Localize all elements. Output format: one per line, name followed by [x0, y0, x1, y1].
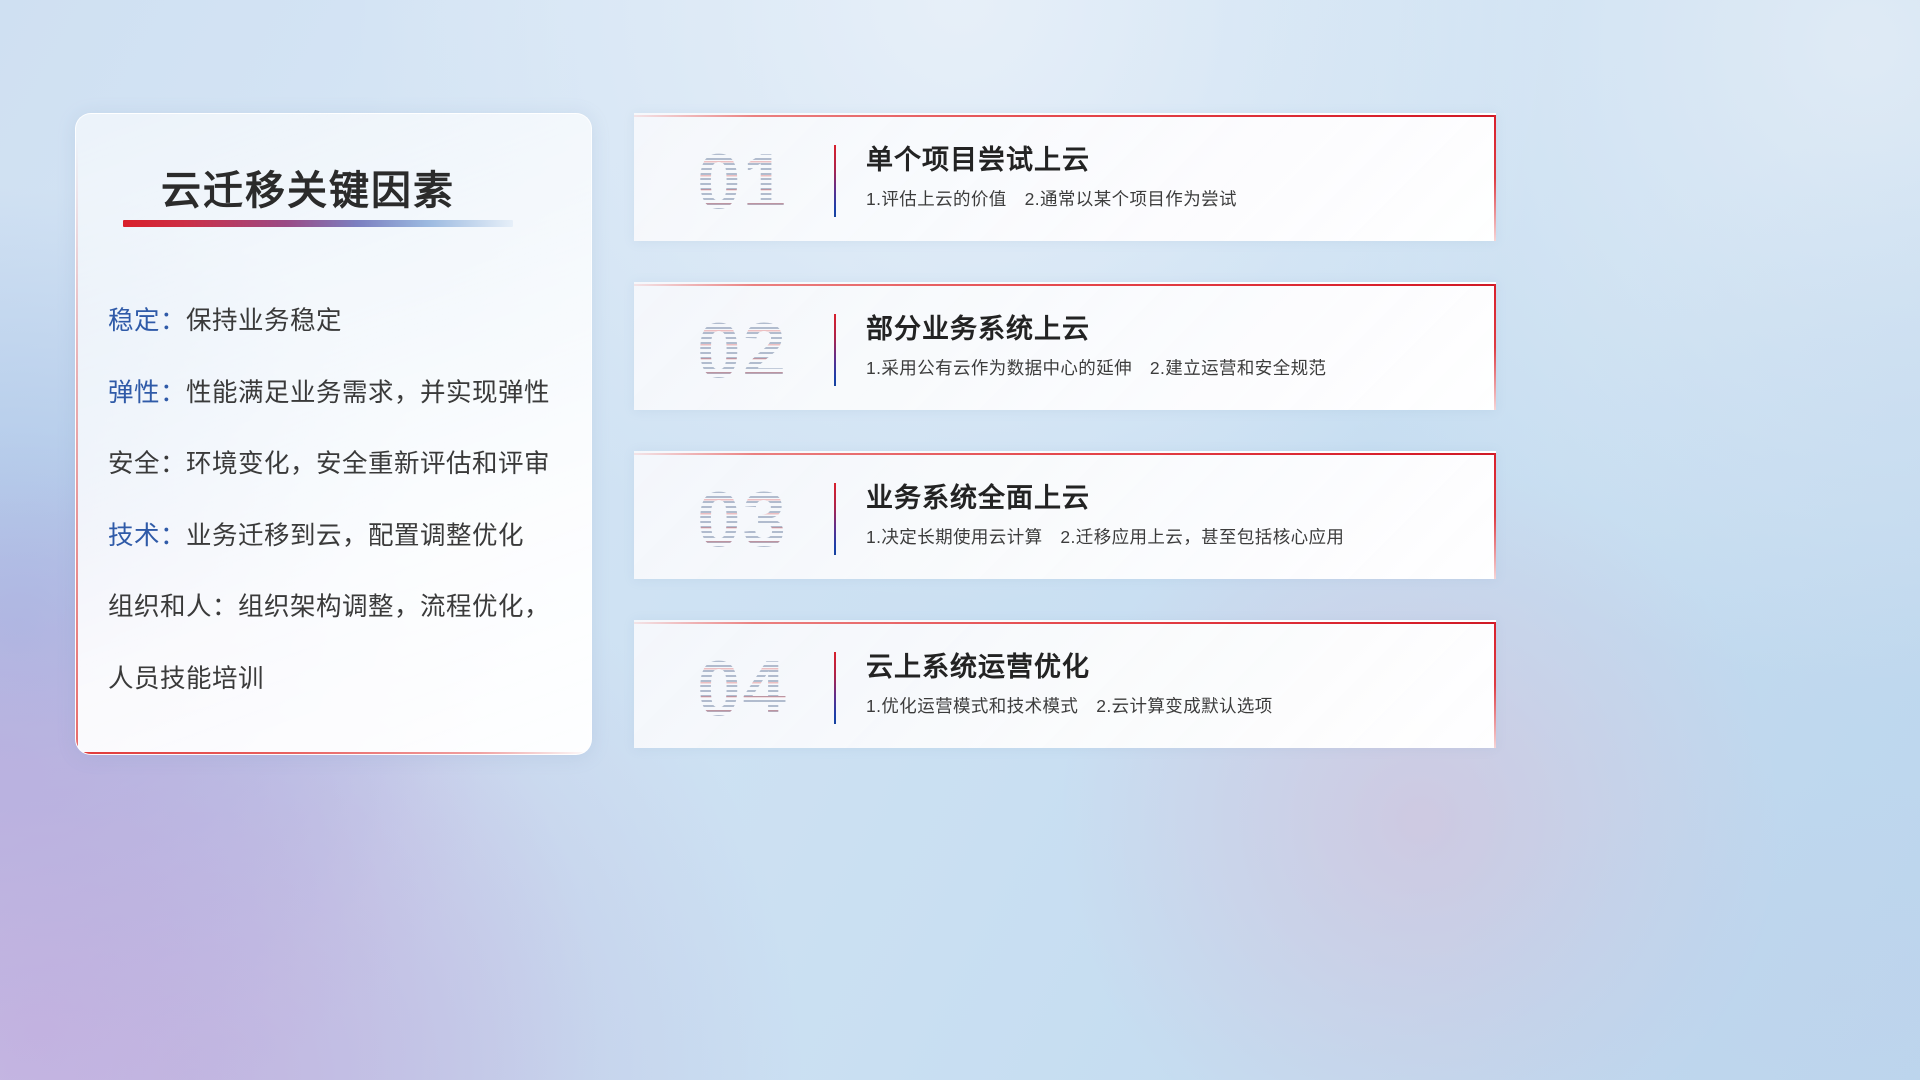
card-top-accent [634, 453, 1496, 455]
list-item-text: 业务迁移到云，配置调整优化 [186, 522, 524, 550]
stage-card-01[interactable]: 01 01 单个项目尝试上云 1.评估上云的价值 2.通常以某个项目作为尝试 [634, 113, 1496, 241]
card-description: 1.评估上云的价值 2.通常以某个项目作为尝试 [866, 186, 1237, 211]
card-right-accent [1494, 115, 1496, 241]
card-title: 部分业务系统上云 [866, 307, 1090, 346]
card-title: 业务系统全面上云 [866, 476, 1090, 515]
list-item: 安全：环境变化，安全重新评估和评审 [108, 452, 567, 478]
list-item: 稳定：保持业务稳定 [108, 309, 567, 335]
list-item: 技术：业务迁移到云，配置调整优化 [108, 524, 567, 550]
card-description: 1.优化运营模式和技术模式 2.云计算变成默认选项 [866, 693, 1273, 718]
card-divider-bar [834, 314, 836, 386]
stage-card-02[interactable]: 02 02 部分业务系统上云 1.采用公有云作为数据中心的延伸 2.建立运营和安… [634, 282, 1496, 410]
list-item-label: 弹性： [108, 379, 186, 407]
card-right-accent [1494, 622, 1496, 748]
stage-card-04[interactable]: 04 04 云上系统运营优化 1.优化运营模式和技术模式 2.云计算变成默认选项 [634, 620, 1496, 748]
card-description: 1.决定长期使用云计算 2.迁移应用上云，甚至包括核心应用 [866, 524, 1344, 549]
list-item-label: 组织和人： [108, 593, 238, 621]
stage-cards: 01 01 单个项目尝试上云 1.评估上云的价值 2.通常以某个项目作为尝试 0… [634, 113, 1496, 748]
list-item: 人员技能培训 [108, 667, 567, 693]
list-item-text: 保持业务稳定 [186, 307, 342, 335]
list-item-label: 稳定： [108, 307, 186, 335]
list-item-text: 人员技能培训 [108, 665, 264, 693]
card-top-accent [634, 622, 1496, 624]
card-divider-bar [834, 145, 836, 217]
stage-card-03[interactable]: 03 03 业务系统全面上云 1.决定长期使用云计算 2.迁移应用上云，甚至包括… [634, 451, 1496, 579]
card-number-watermark-tint: 04 [660, 640, 825, 736]
card-title: 单个项目尝试上云 [866, 138, 1090, 177]
card-number-watermark-tint: 03 [660, 471, 825, 567]
list-item: 组织和人：组织架构调整，流程优化， [108, 595, 567, 621]
list-item-label: 技术： [108, 522, 186, 550]
card-divider-bar [834, 483, 836, 555]
card-number-watermark-tint: 02 [660, 302, 825, 398]
title-underline-rule [123, 220, 513, 227]
list-item-label: 安全： [108, 450, 186, 478]
list-item: 弹性：性能满足业务需求，并实现弹性 [108, 381, 567, 407]
card-top-accent [634, 284, 1496, 286]
card-right-accent [1494, 284, 1496, 410]
card-right-accent [1494, 453, 1496, 579]
card-divider-bar [834, 652, 836, 724]
card-top-accent [634, 115, 1496, 117]
key-factors-list: 稳定：保持业务稳定 弹性：性能满足业务需求，并实现弹性 安全：环境变化，安全重新… [108, 309, 567, 692]
page-title: 云迁移关键因素 [161, 158, 455, 216]
list-item-text: 环境变化，安全重新评估和评审 [186, 450, 550, 478]
card-title: 云上系统运营优化 [866, 645, 1090, 684]
key-factors-panel: 云迁移关键因素 稳定：保持业务稳定 弹性：性能满足业务需求，并实现弹性 安全：环… [75, 113, 592, 755]
card-number-watermark-tint: 01 [660, 133, 825, 229]
list-item-text: 组织架构调整，流程优化， [238, 593, 550, 621]
card-description: 1.采用公有云作为数据中心的延伸 2.建立运营和安全规范 [866, 355, 1326, 380]
list-item-text: 性能满足业务需求，并实现弹性 [186, 379, 550, 407]
